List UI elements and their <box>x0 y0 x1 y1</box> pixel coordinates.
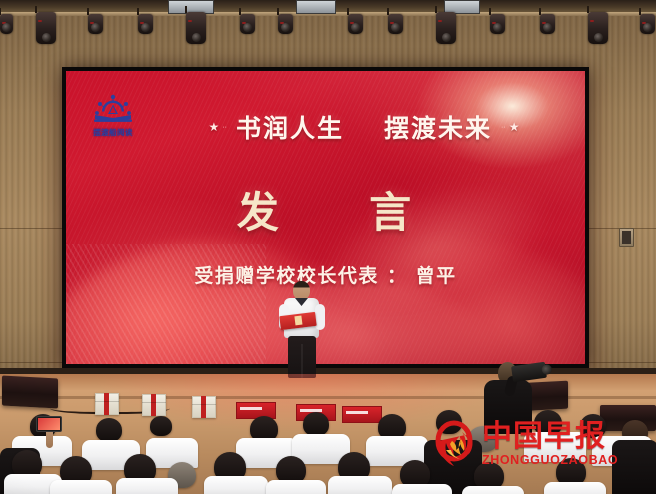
photo-scene: 摆渡船阅读 ★ ·· 书润人生 摆渡未来 ·· ★ 发 言 <box>0 0 656 494</box>
watermark-text: 中国早报 ZHONGGUOZAOBAO <box>482 422 618 469</box>
audience-head <box>303 412 329 436</box>
wall-outlet-plate <box>619 228 634 247</box>
star-icon: ★ <box>209 121 220 133</box>
audience-head <box>150 416 172 436</box>
audience-seat <box>328 476 392 494</box>
organization-logo: 摆渡船阅读 <box>82 92 144 142</box>
star-decoration-right: ·· ★ <box>501 121 519 133</box>
main-word-char-1: 发 <box>237 188 282 237</box>
logo-text: 摆渡船阅读 <box>82 127 144 138</box>
audience-seat <box>116 478 178 494</box>
audience-seat <box>50 480 112 494</box>
audience-head <box>96 418 122 442</box>
presenter-speaker <box>274 281 332 377</box>
star-dots-left: ·· <box>222 124 227 131</box>
flame-logo-icon <box>428 419 480 471</box>
audience-phone <box>36 416 62 432</box>
slide-main-word: 发 言 <box>66 179 585 240</box>
ceiling-panel <box>296 0 336 14</box>
star-dots-right: ·· <box>501 124 506 131</box>
audience-seat <box>204 476 268 494</box>
news-watermark: 中国早报 ZHONGGUOZAOBAO <box>428 414 652 476</box>
presenter-arm-right <box>315 304 325 330</box>
audience-seat <box>266 480 326 494</box>
audience-seat <box>544 482 606 494</box>
audience-seat <box>392 484 452 494</box>
audience-seat <box>462 486 524 494</box>
headline-part-2: 摆渡未来 <box>384 109 492 145</box>
ferry-boat-book-icon <box>91 92 135 126</box>
presenter-trousers <box>288 336 316 378</box>
video-camera <box>511 362 547 383</box>
star-icon: ★ <box>509 121 520 133</box>
headline-part-1: 书润人生 <box>236 109 344 145</box>
watermark-pinyin: ZHONGGUOZAOBAO <box>482 452 618 469</box>
watermark-chinese: 中国早报 <box>482 422 618 452</box>
slide-headline: ★ ·· 书润人生 摆渡未来 ·· ★ <box>154 109 574 145</box>
main-word-char-2: 言 <box>369 188 414 237</box>
star-decoration-left: ★ ·· <box>209 121 227 133</box>
